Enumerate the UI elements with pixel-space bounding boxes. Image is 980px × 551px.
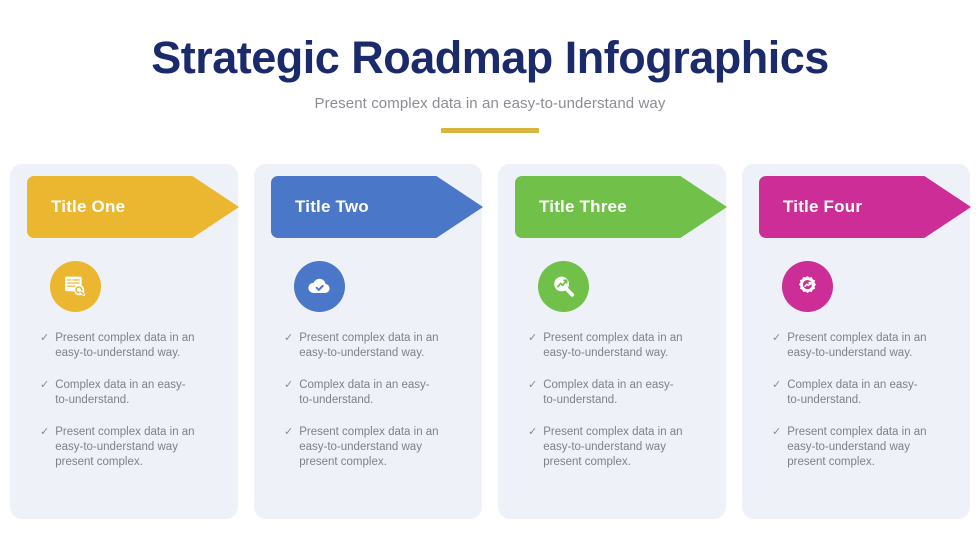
check-icon: ✓ [528, 378, 537, 393]
bullet-text: Present complex data in an easy-to-under… [299, 425, 441, 470]
card-two-title: Title Two [271, 197, 369, 217]
cards-row: Title One [0, 164, 980, 519]
card-two-icon-circle [294, 261, 345, 312]
document-search-icon [63, 274, 88, 299]
check-icon: ✓ [40, 331, 49, 346]
banner-four-wrap: Title Four [759, 176, 971, 238]
card-four[interactable]: Title Four ✓ Present complex data in an … [742, 164, 970, 519]
check-icon: ✓ [772, 378, 781, 393]
card-one-title: Title One [27, 197, 125, 217]
bullet-text: Complex data in an easy-to-understand. [787, 378, 929, 408]
bullet-text: Complex data in an easy-to-understand. [299, 378, 441, 408]
card-one-bullets: ✓ Present complex data in an easy-to-und… [40, 331, 224, 470]
list-item: ✓ Present complex data in an easy-to-und… [772, 425, 956, 470]
card-two-bullets: ✓ Present complex data in an easy-to-und… [284, 331, 468, 470]
check-icon: ✓ [40, 425, 49, 440]
page-subtitle: Present complex data in an easy-to-under… [0, 95, 980, 112]
gear-trend-icon [795, 274, 820, 299]
search-trend-icon [551, 274, 576, 299]
list-item: ✓ Present complex data in an easy-to-und… [528, 331, 712, 361]
card-four-icon-circle [782, 261, 833, 312]
list-item: ✓ Present complex data in an easy-to-und… [40, 425, 224, 470]
check-icon: ✓ [772, 331, 781, 346]
card-four-title: Title Four [759, 197, 862, 217]
check-icon: ✓ [528, 425, 537, 440]
banner-two[interactable]: Title Two [271, 176, 483, 238]
bullet-text: Present complex data in an easy-to-under… [55, 425, 197, 470]
check-icon: ✓ [284, 331, 293, 346]
card-three-title: Title Three [515, 197, 627, 217]
card-one-icon-circle [50, 261, 101, 312]
header: Strategic Roadmap Infographics Present c… [0, 0, 980, 133]
list-item: ✓ Present complex data in an easy-to-und… [284, 425, 468, 470]
bullet-text: Present complex data in an easy-to-under… [787, 331, 929, 361]
check-icon: ✓ [40, 378, 49, 393]
check-icon: ✓ [528, 331, 537, 346]
list-item: ✓ Present complex data in an easy-to-und… [528, 425, 712, 470]
list-item: ✓ Complex data in an easy-to-understand. [528, 378, 712, 408]
list-item: ✓ Complex data in an easy-to-understand. [284, 378, 468, 408]
title-divider [441, 128, 539, 133]
bullet-text: Complex data in an easy-to-understand. [543, 378, 685, 408]
card-one[interactable]: Title One [10, 164, 238, 519]
card-three[interactable]: Title Three ✓ Present complex data in an… [498, 164, 726, 519]
list-item: ✓ Complex data in an easy-to-understand. [40, 378, 224, 408]
list-item: ✓ Present complex data in an easy-to-und… [40, 331, 224, 361]
banner-one[interactable]: Title One [27, 176, 239, 238]
check-icon: ✓ [284, 378, 293, 393]
list-item: ✓ Complex data in an easy-to-understand. [772, 378, 956, 408]
card-four-bullets: ✓ Present complex data in an easy-to-und… [772, 331, 956, 470]
bullet-text: Present complex data in an easy-to-under… [543, 331, 685, 361]
cloud-check-icon [307, 274, 332, 299]
bullet-text: Present complex data in an easy-to-under… [787, 425, 929, 470]
banner-one-wrap: Title One [27, 176, 239, 238]
card-three-bullets: ✓ Present complex data in an easy-to-und… [528, 331, 712, 470]
card-three-icon-circle [538, 261, 589, 312]
bullet-text: Present complex data in an easy-to-under… [299, 331, 441, 361]
bullet-text: Present complex data in an easy-to-under… [543, 425, 685, 470]
list-item: ✓ Present complex data in an easy-to-und… [284, 331, 468, 361]
list-item: ✓ Present complex data in an easy-to-und… [772, 331, 956, 361]
bullet-text: Complex data in an easy-to-understand. [55, 378, 197, 408]
slide-canvas: Strategic Roadmap Infographics Present c… [0, 0, 980, 551]
page-title: Strategic Roadmap Infographics [0, 34, 980, 81]
banner-three[interactable]: Title Three [515, 176, 727, 238]
banner-two-wrap: Title Two [271, 176, 483, 238]
banner-four[interactable]: Title Four [759, 176, 971, 238]
check-icon: ✓ [284, 425, 293, 440]
check-icon: ✓ [772, 425, 781, 440]
banner-three-wrap: Title Three [515, 176, 727, 238]
bullet-text: Present complex data in an easy-to-under… [55, 331, 197, 361]
card-two[interactable]: Title Two ✓ Present complex data in an e… [254, 164, 482, 519]
